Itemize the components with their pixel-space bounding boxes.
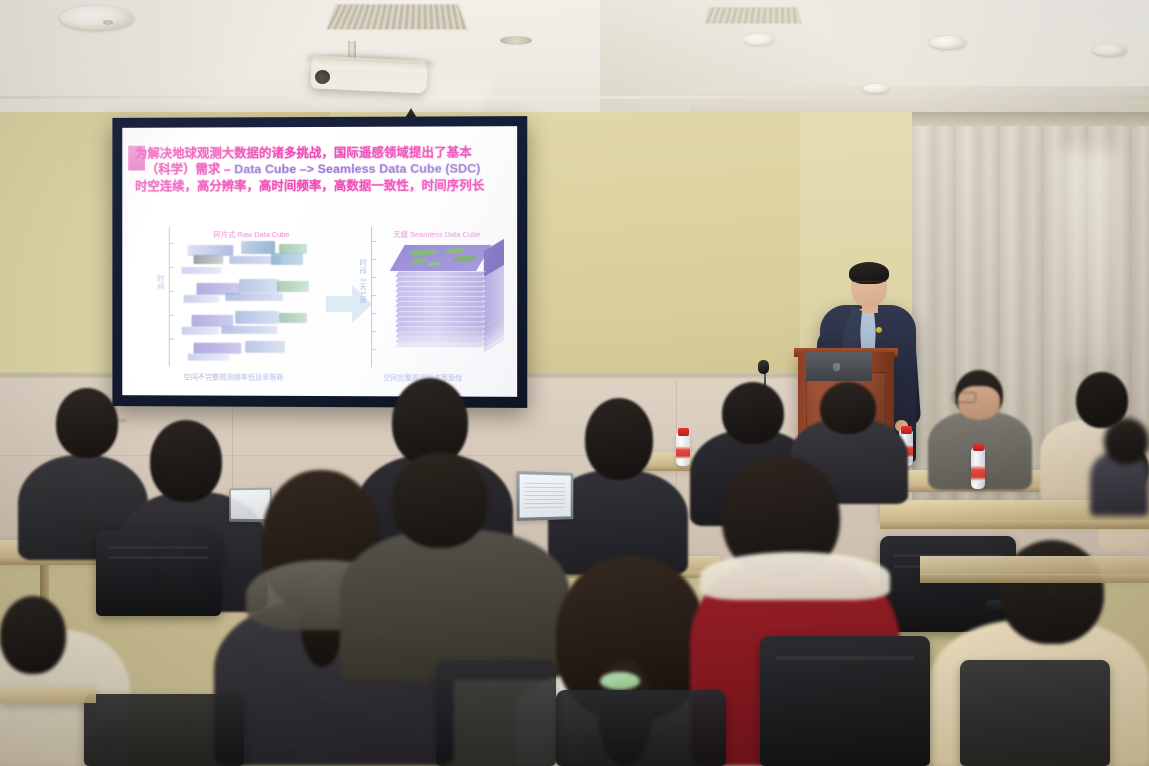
chair — [84, 694, 244, 766]
curtain-rail — [912, 112, 1149, 126]
chair — [960, 660, 1110, 766]
chair — [880, 536, 1016, 632]
chair — [556, 690, 726, 766]
bottle-cap — [901, 426, 912, 434]
screen-surface: 为解决地球观测大数据的诸多挑战，国际遥感领域提出了基本 （科学）需求 – Dat… — [122, 126, 517, 397]
diagram-right-heading: 无缝 Seamless Data Cube — [393, 229, 480, 240]
laptop-screen — [231, 490, 270, 520]
left-axis-label: 时间 — [155, 275, 165, 291]
right-axis-label: 时间 1天1层 — [357, 259, 367, 304]
table-edge — [880, 520, 1149, 529]
presentation-slide: 为解决地球观测大数据的诸多挑战，国际遥感领域提出了基本 （科学）需求 – Dat… — [122, 126, 517, 397]
window-light — [1060, 150, 1120, 360]
slide-title-line-3: 时空连续，高分辨率，高时间频率，高数据一致性，时间序列长 — [135, 177, 513, 194]
laptop-logo-icon — [833, 363, 840, 371]
right-axis-line — [371, 227, 372, 367]
cube-top-face — [390, 245, 492, 271]
diagram-left-heading: 碎片式 Raw Data Cube — [213, 229, 289, 240]
collar — [700, 552, 890, 600]
presenter-glasses-icon — [852, 281, 886, 289]
presenter-lapel-pin — [876, 327, 882, 333]
microphone-icon — [758, 360, 769, 374]
bottle-label — [971, 465, 985, 481]
smoke-detector — [500, 36, 532, 45]
slide-title-line-2-cn: （科学）需求 – — [146, 163, 234, 177]
glasses-icon — [110, 420, 126, 428]
table — [0, 686, 96, 703]
bottle-label — [676, 446, 690, 459]
slide-title-line-2-en: Data Cube –> Seamless Data Cube (SDC) — [234, 162, 480, 177]
slide-title-line-1: 为解决地球观测大数据的诸多挑战，国际遥感领域提出了基本 — [135, 145, 472, 160]
table-edge — [920, 574, 1149, 583]
slide-title: 为解决地球观测大数据的诸多挑战，国际遥感领域提出了基本 （科学）需求 – Dat… — [135, 144, 513, 194]
ceiling-seam — [0, 96, 1149, 99]
laptop-screen — [520, 474, 571, 517]
table — [920, 556, 1149, 575]
bottle-cap — [678, 428, 689, 436]
bottle-cap — [973, 443, 984, 451]
hair-tie — [600, 672, 640, 690]
chair — [436, 660, 556, 766]
ceiling-air-vent — [324, 3, 469, 30]
seminar-room-photo: 为解决地球观测大数据的诸多挑战，国际遥感领域提出了基本 （科学）需求 – Dat… — [0, 0, 1149, 766]
recessed-ceiling-light — [744, 34, 774, 45]
glasses-icon — [952, 392, 976, 403]
slide-diagram: 碎片式 Raw Data Cube 时间 — [122, 223, 517, 397]
audience-laptop — [517, 471, 574, 521]
recessed-ceiling-light — [1093, 44, 1127, 56]
projection-screen: 为解决地球观测大数据的诸多挑战，国际遥感领域提出了基本 （科学）需求 – Dat… — [112, 116, 527, 408]
ceiling-air-vent — [702, 6, 803, 25]
left-axis-line — [169, 227, 170, 366]
recessed-ceiling-light — [60, 6, 134, 30]
recessed-ceiling-light — [863, 84, 889, 93]
chair — [760, 636, 930, 766]
seamless-data-cube-graphic — [397, 245, 508, 354]
recessed-ceiling-light — [930, 36, 966, 49]
diagram-left-caption: 空间不完整观测频率低且非等距 — [184, 373, 284, 383]
chair — [96, 530, 221, 616]
smoke-detector — [103, 20, 113, 25]
